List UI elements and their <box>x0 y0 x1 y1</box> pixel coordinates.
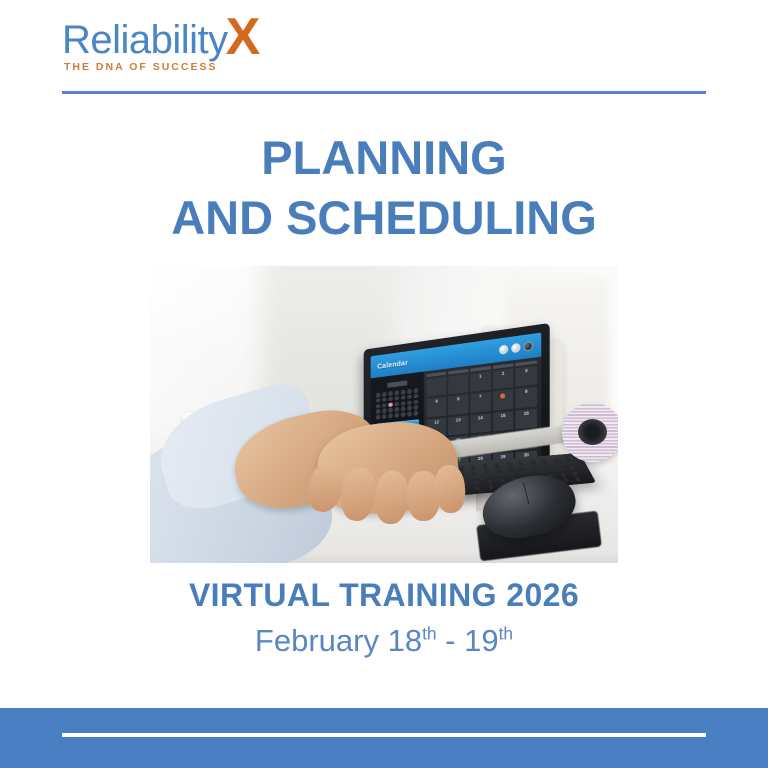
calendar-day-cell: 6 <box>427 397 446 417</box>
day-number: 6 <box>428 398 446 405</box>
mouse-button-split <box>523 482 529 504</box>
mini-cell <box>408 389 412 394</box>
day-number: 1 <box>472 373 490 380</box>
mini-cell <box>383 392 387 397</box>
calendar-icon <box>524 341 533 352</box>
mini-cell <box>383 409 387 414</box>
day-number: 9 <box>517 388 536 395</box>
calendar-day-cell <box>449 374 469 395</box>
tape-roll-core <box>578 419 607 445</box>
calendar-day-cell: 14 <box>471 413 491 434</box>
day-number: 14 <box>472 414 490 421</box>
day-number: 7 <box>472 393 490 400</box>
calendar-day-cell: 2 <box>493 369 514 390</box>
event-date-separator: - 19 <box>437 623 499 658</box>
event-headline: VIRTUAL TRAINING 2026 <box>0 578 768 613</box>
mini-cell <box>383 414 387 419</box>
tape-roll <box>562 403 618 462</box>
day-number: 12 <box>428 418 446 425</box>
poster-canvas: Reliability X THE DNA OF SUCCESS PLANNIN… <box>0 0 768 768</box>
brand-logo: Reliability X THE DNA OF SUCCESS <box>62 20 260 73</box>
calendar-day-cell-today <box>493 390 514 411</box>
calendar-titlebar-icons <box>500 341 534 355</box>
calendar-day-cell: 1 <box>471 371 491 392</box>
mini-cell <box>408 400 412 405</box>
day-number: 13 <box>450 416 468 423</box>
header-divider <box>62 91 706 94</box>
mini-cell <box>402 407 406 412</box>
footer-accent-line <box>62 733 706 737</box>
title-line-1: PLANNING <box>0 128 768 188</box>
mini-cell <box>377 410 381 415</box>
mini-calendar-grid <box>376 388 419 420</box>
day-number: 15 <box>494 412 513 419</box>
day-number: 2 <box>494 370 513 377</box>
mini-cell <box>402 390 406 395</box>
cloud-icon <box>512 343 521 354</box>
footer-bar <box>0 708 768 768</box>
mini-cell <box>402 412 406 417</box>
day-number: 16 <box>517 409 536 416</box>
calendar-day-cell: 15 <box>493 411 514 432</box>
mini-cell <box>395 413 399 418</box>
event-date-ordinal-2: th <box>499 624 513 644</box>
mini-cell <box>377 398 381 403</box>
page-title: PLANNING AND SCHEDULING <box>0 128 768 248</box>
calendar-day-cell: 13 <box>449 415 469 435</box>
mini-cell <box>408 406 412 411</box>
mini-cell <box>414 394 418 399</box>
day-number <box>450 375 468 377</box>
event-date-prefix: February 18 <box>255 623 422 658</box>
mini-calendar-month-label <box>387 381 407 388</box>
logo-x-accent: X <box>226 17 261 58</box>
day-number: 8 <box>450 396 468 403</box>
calendar-day-cell: 8 <box>449 395 469 416</box>
mini-cell <box>377 415 381 420</box>
mini-cell-selected <box>389 403 393 408</box>
mini-cell <box>414 400 418 405</box>
mini-cell <box>414 405 418 410</box>
mini-cell <box>383 403 387 408</box>
logo-wordmark-row: Reliability X <box>62 20 260 60</box>
calendar-day-cell: 16 <box>516 408 537 429</box>
mini-cell <box>389 408 393 413</box>
mini-cell <box>402 401 406 406</box>
mini-cell <box>414 388 418 393</box>
calendar-day-cell: 9 <box>516 387 537 408</box>
calendar-app-title: Calendar <box>378 358 409 371</box>
mini-cell <box>408 412 412 417</box>
mini-cell <box>389 397 393 402</box>
mini-cell <box>395 402 399 407</box>
logo-wordmark: Reliability <box>62 20 228 60</box>
mini-cell <box>377 393 381 398</box>
mini-cell <box>389 414 393 419</box>
mini-cell <box>395 396 399 401</box>
event-date: February 18th - 19th <box>0 624 768 658</box>
event-details: VIRTUAL TRAINING 2026 February 18th - 19… <box>0 578 768 658</box>
event-date-ordinal-1: th <box>422 624 436 644</box>
day-number <box>428 378 446 380</box>
hero-photo: Calendar <box>150 266 618 563</box>
calendar-day-cell <box>427 377 446 397</box>
day-number: 3 <box>517 367 536 375</box>
calendar-day-cell: 7 <box>471 392 491 413</box>
clock-icon <box>500 345 509 355</box>
logo-tagline: THE DNA OF SUCCESS <box>64 61 217 73</box>
mini-cell <box>383 398 387 403</box>
title-line-2: AND SCHEDULING <box>0 188 768 248</box>
today-marker-icon <box>501 393 506 399</box>
mini-cell <box>389 391 393 396</box>
photo-scene: Calendar <box>150 266 618 563</box>
mini-cell <box>377 404 381 409</box>
mini-cell <box>408 395 412 400</box>
calendar-day-cell: 3 <box>516 366 537 388</box>
mini-cell <box>395 407 399 412</box>
mini-cell <box>414 411 418 416</box>
mini-cell <box>395 391 399 396</box>
poster-header: Reliability X THE DNA OF SUCCESS <box>0 0 768 100</box>
mini-cell <box>402 396 406 401</box>
